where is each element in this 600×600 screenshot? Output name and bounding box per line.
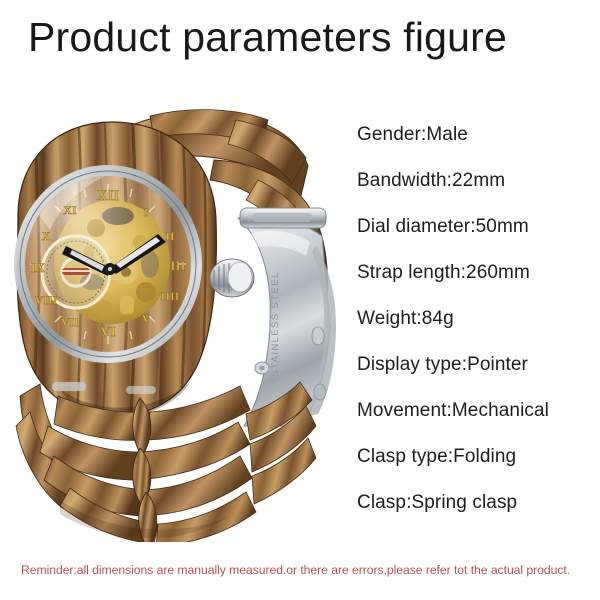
spec-item-movement: Movement:Mechanical: [357, 388, 597, 434]
reminder-note: Reminder:all dimensions are manually mea…: [21, 562, 570, 578]
watch-crown: [210, 259, 254, 297]
page-title: Product parameters figure: [28, 11, 507, 63]
clasp-engraving-text: STAINLESS STEEL: [270, 271, 281, 376]
svg-text:IIII: IIII: [161, 289, 180, 303]
svg-text:III: III: [170, 258, 185, 273]
spec-item-dial-diameter: Dial diameter:50mm: [357, 204, 597, 250]
svg-text:VIII: VIII: [35, 293, 58, 307]
spec-item-weight: Weight:84g: [357, 296, 597, 342]
svg-text:VII: VII: [61, 315, 79, 329]
svg-text:V: V: [142, 311, 151, 325]
svg-text:XI: XI: [63, 203, 77, 217]
product-photo: XII I II III IIII V VI VII VIII IX X XI: [0, 96, 350, 542]
product-parameters-figure: Product parameters figure: [0, 0, 600, 600]
spec-item-display-type: Display type:Pointer: [357, 342, 597, 388]
svg-text:IX: IX: [31, 260, 46, 275]
bracelet-lower: [16, 382, 316, 542]
svg-text:VI: VI: [100, 325, 116, 340]
spec-list: Gender:Male Bandwidth:22mm Dial diameter…: [357, 112, 597, 526]
svg-text:X: X: [42, 229, 51, 243]
svg-text:XII: XII: [97, 188, 120, 204]
spec-item-bandwidth: Bandwidth:22mm: [357, 158, 597, 204]
spec-item-strap-length: Strap length:260mm: [357, 250, 597, 296]
spec-item-gender: Gender:Male: [357, 112, 597, 158]
svg-text:I: I: [144, 205, 149, 219]
svg-text:II: II: [165, 229, 175, 243]
spec-item-clasp-type: Clasp type:Folding: [357, 434, 597, 480]
spec-item-clasp: Clasp:Spring clasp: [357, 480, 597, 526]
